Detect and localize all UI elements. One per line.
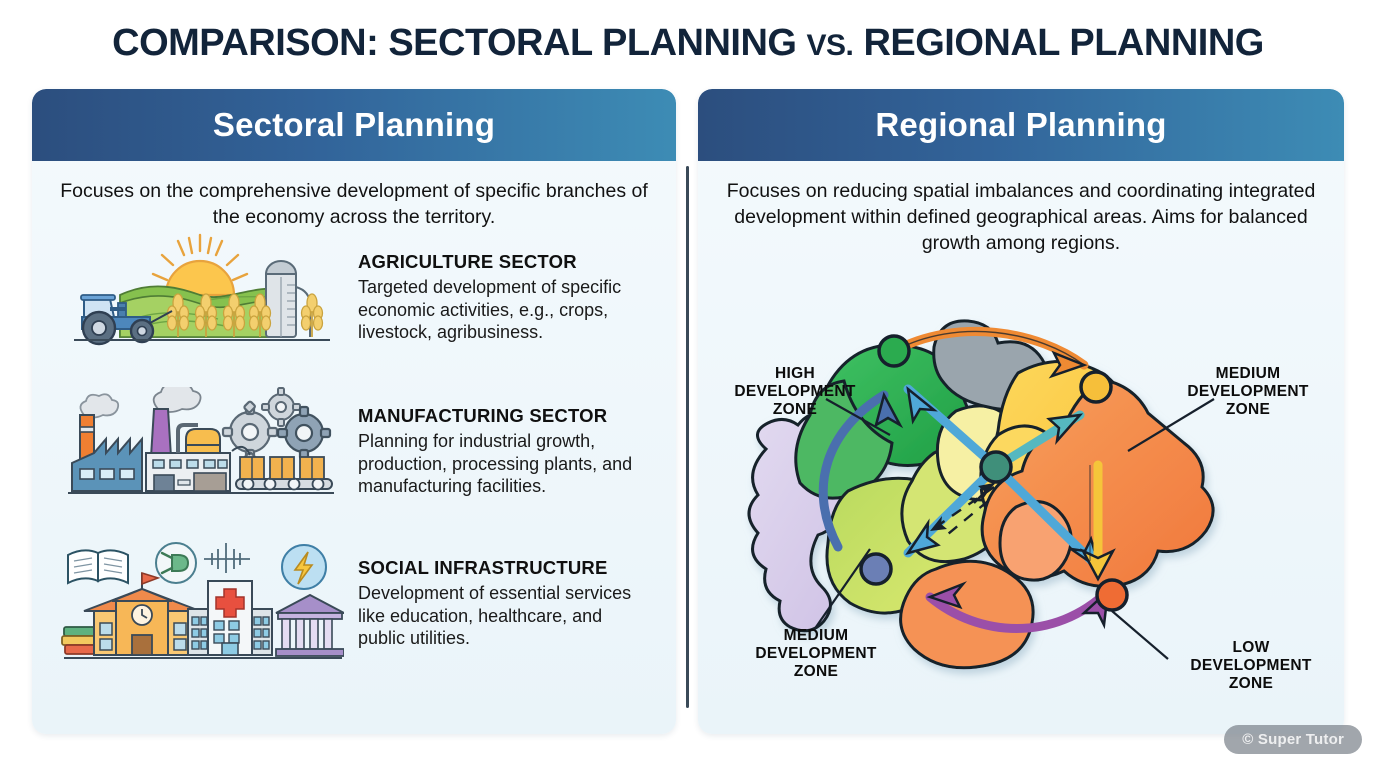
sector-title: SOCIAL INFRASTRUCTURE: [358, 557, 654, 579]
civic-building-icon: [276, 595, 344, 656]
plug-icon: [156, 543, 196, 583]
node-medium-right: [1081, 372, 1111, 402]
zone-label-medium-right: MEDIUM DEVELOPMENT ZONE: [1168, 365, 1328, 419]
sector-item-agriculture[interactable]: AGRICULTURE SECTOR Targeted development …: [54, 233, 654, 353]
panel-sectoral-header: Sectoral Planning: [32, 89, 676, 161]
zone-label-high: HIGH DEVELOPMENT ZONE: [720, 365, 870, 419]
panel-sectoral-title: Sectoral Planning: [213, 106, 495, 144]
sector-description: Development of essential services like e…: [358, 582, 654, 650]
sector-text-manufacturing: MANUFACTURING SECTOR Planning for indust…: [358, 387, 654, 498]
watermark-super-tutor: © Super Tutor: [1224, 725, 1362, 754]
sector-title: AGRICULTURE SECTOR: [358, 251, 654, 273]
hospital-building-icon: [188, 581, 272, 655]
node-hub: [981, 452, 1011, 482]
agriculture-farm-icon: [54, 233, 344, 353]
node-medium-left: [861, 554, 891, 584]
sector-description: Targeted development of specific economi…: [358, 276, 654, 344]
social-infrastructure-icon: [54, 539, 344, 659]
sector-text-social-infrastructure: SOCIAL INFRASTRUCTURE Development of ess…: [358, 539, 654, 650]
page-title-after: REGIONAL PLANNING: [853, 22, 1263, 64]
node-high: [879, 336, 909, 366]
zone-label-low: LOW DEVELOPMENT ZONE: [1176, 639, 1326, 693]
factory-manufacturing-icon: [54, 387, 344, 507]
panel-sectoral-planning: Sectoral Planning Focuses on the compreh…: [32, 89, 676, 734]
page-title-before: COMPARISON: SECTORAL PLANNING: [112, 22, 806, 64]
panel-divider: [686, 166, 689, 708]
sector-title: MANUFACTURING SECTOR: [358, 405, 654, 427]
panel-sectoral-intro: Focuses on the comprehensive development…: [32, 161, 676, 231]
panel-regional-title: Regional Planning: [875, 106, 1166, 144]
page-title-vs: VS.: [807, 29, 854, 62]
page-title: COMPARISON: SECTORAL PLANNING VS. REGION…: [0, 22, 1376, 65]
panel-regional-planning: Regional Planning Focuses on reducing sp…: [698, 89, 1344, 734]
sector-item-manufacturing[interactable]: MANUFACTURING SECTOR Planning for indust…: [54, 387, 654, 507]
book-icon: [68, 550, 128, 583]
leader-low: [1112, 611, 1168, 659]
regional-development-map[interactable]: HIGH DEVELOPMENT ZONE MEDIUM DEVELOPMENT…: [698, 239, 1344, 719]
sector-description: Planning for industrial growth, producti…: [358, 430, 654, 498]
panel-regional-header: Regional Planning: [698, 89, 1344, 161]
school-building-icon: [84, 573, 200, 655]
sector-item-social-infrastructure[interactable]: SOCIAL INFRASTRUCTURE Development of ess…: [54, 539, 654, 659]
sector-text-agriculture: AGRICULTURE SECTOR Targeted development …: [358, 233, 654, 344]
lightning-bolt-icon: [282, 545, 326, 589]
zone-label-medium-left: MEDIUM DEVELOPMENT ZONE: [736, 627, 896, 681]
signal-icon: [204, 543, 250, 573]
node-low: [1097, 580, 1127, 610]
